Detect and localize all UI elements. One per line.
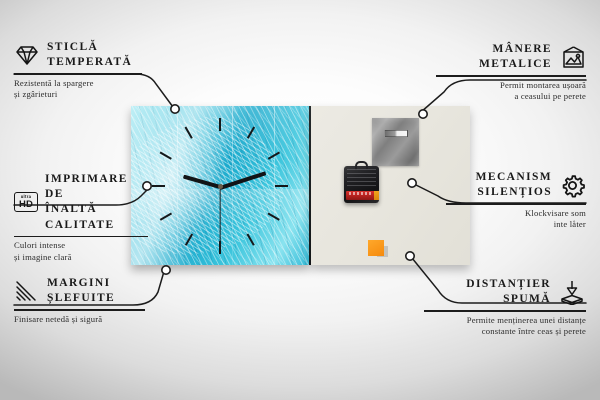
battery-terminal — [374, 191, 379, 200]
metal-hanger-part — [372, 118, 419, 166]
callout-rule — [436, 75, 586, 76]
callout-rule — [446, 203, 586, 204]
callout-subtitle-line1: Culori intense — [14, 240, 148, 252]
movement-print — [347, 169, 376, 186]
callout-subtitle-line1: Klockvisare som — [446, 208, 586, 220]
gear-icon — [559, 173, 586, 198]
callout-title-line2: SPUMĂ — [466, 292, 551, 307]
dial-tick — [219, 118, 221, 131]
callout-rule — [14, 309, 145, 310]
callout-title-line2: METALICE — [479, 57, 552, 72]
callout-subtitle-line1: Finisare netedă și sigură — [14, 314, 145, 326]
callout-title-line2: SILENȚIOS — [476, 185, 552, 200]
callout-subtitle-line1: Permit montarea ușoară — [436, 80, 586, 92]
callout-rule — [14, 236, 148, 237]
battery-label — [349, 192, 371, 195]
dial-tick — [275, 185, 288, 187]
callout-subtitle-line2: constante între ceas și perete — [424, 326, 586, 338]
connector-dot-edges — [162, 266, 170, 274]
hd-icon-main-text: HD — [19, 200, 33, 210]
callout-title-line1: IMPRIMARE DE — [45, 172, 148, 202]
callout-metal-handles[interactable]: MÂNERE METALICE Permit montarea ușoară a… — [436, 42, 586, 103]
callout-title-line1: MECANISM — [476, 170, 552, 185]
callout-rule — [424, 310, 586, 311]
callout-title-line2: TEMPERATĂ — [47, 55, 132, 70]
spacer-arrow-icon — [558, 279, 586, 305]
callout-tempered-glass[interactable]: STICLĂ TEMPERATĂ Rezistentă la spargere … — [14, 40, 142, 101]
callout-subtitle-line2: inte låter — [446, 219, 586, 231]
clock-movement-part — [344, 166, 379, 203]
hand-hub — [218, 184, 223, 189]
callout-subtitle-line1: Rezistentă la spargere — [14, 78, 142, 90]
callout-polished-edges[interactable]: MARGINI ȘLEFUITE Finisare netedă și sigu… — [14, 276, 145, 325]
callout-title-line2: ÎNALTĂ CALITATE — [45, 202, 148, 232]
diamond-icon — [14, 44, 40, 67]
callout-subtitle-line2: a ceasului pe perete — [436, 91, 586, 103]
callout-title-line1: MARGINI — [47, 276, 115, 291]
callout-subtitle-line1: Permite menținerea unei distanțe — [424, 315, 586, 327]
picture-frame-icon — [559, 45, 586, 69]
polished-edge-icon — [14, 280, 40, 303]
callout-title-line1: MÂNERE — [479, 42, 552, 57]
callout-title-line1: DISTANȚIER — [466, 277, 551, 292]
ultra-hd-icon: ultra HD — [14, 192, 38, 212]
second-hand — [219, 187, 220, 245]
callout-rule — [14, 73, 142, 74]
hanger-slot — [384, 130, 408, 137]
callout-subtitle-line2: și imagine clară — [14, 252, 148, 264]
battery-part — [346, 191, 377, 200]
callout-title-line2: ȘLEFUITE — [47, 291, 115, 306]
callout-foam-spacer[interactable]: DISTANȚIER SPUMĂ Permite menținerea unei… — [424, 277, 586, 338]
clock-front-panel — [131, 106, 309, 265]
callout-title-line1: STICLĂ — [47, 40, 132, 55]
foam-spacer-part — [368, 240, 384, 256]
callout-silent-movement[interactable]: MECANISM SILENȚIOS Klockvisare som inte … — [446, 170, 586, 231]
product-stage — [131, 106, 470, 265]
callout-hd-print[interactable]: ultra HD IMPRIMARE DE ÎNALTĂ CALITATE Cu… — [14, 172, 148, 263]
dial-tick — [152, 185, 165, 187]
callout-subtitle-line2: și zgârieturi — [14, 89, 142, 101]
